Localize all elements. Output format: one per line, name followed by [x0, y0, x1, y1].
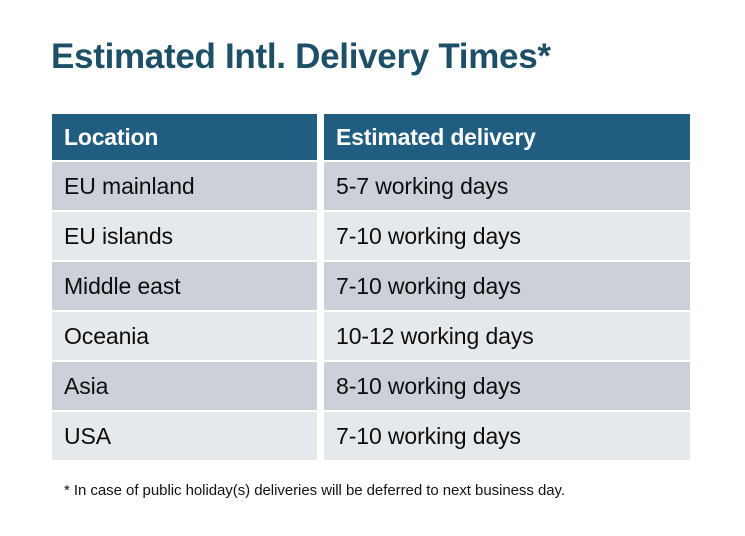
cell-estimated-delivery: 7-10 working days [324, 262, 690, 310]
table-row: EU mainland 5-7 working days [52, 162, 690, 210]
table-header-row: Location Estimated delivery [52, 114, 690, 160]
table-row: EU islands 7-10 working days [52, 212, 690, 260]
table-row: Middle east 7-10 working days [52, 262, 690, 310]
page-title: Estimated Intl. Delivery Times* [51, 35, 551, 79]
cell-location: Oceania [52, 312, 317, 360]
cell-estimated-delivery: 7-10 working days [324, 412, 690, 460]
footnote-text: * In case of public holiday(s) deliverie… [64, 481, 565, 501]
delivery-times-page: Estimated Intl. Delivery Times* Location… [0, 0, 745, 536]
table-row: Asia 8-10 working days [52, 362, 690, 410]
cell-estimated-delivery: 10-12 working days [324, 312, 690, 360]
cell-location: USA [52, 412, 317, 460]
column-header-estimated-delivery: Estimated delivery [324, 114, 690, 160]
table-row: Oceania 10-12 working days [52, 312, 690, 360]
cell-location: Asia [52, 362, 317, 410]
cell-location: EU mainland [52, 162, 317, 210]
cell-estimated-delivery: 8-10 working days [324, 362, 690, 410]
cell-estimated-delivery: 7-10 working days [324, 212, 690, 260]
delivery-times-table: Location Estimated delivery EU mainland … [52, 114, 690, 460]
cell-estimated-delivery: 5-7 working days [324, 162, 690, 210]
cell-location: EU islands [52, 212, 317, 260]
column-header-location: Location [52, 114, 317, 160]
cell-location: Middle east [52, 262, 317, 310]
table-row: USA 7-10 working days [52, 412, 690, 460]
